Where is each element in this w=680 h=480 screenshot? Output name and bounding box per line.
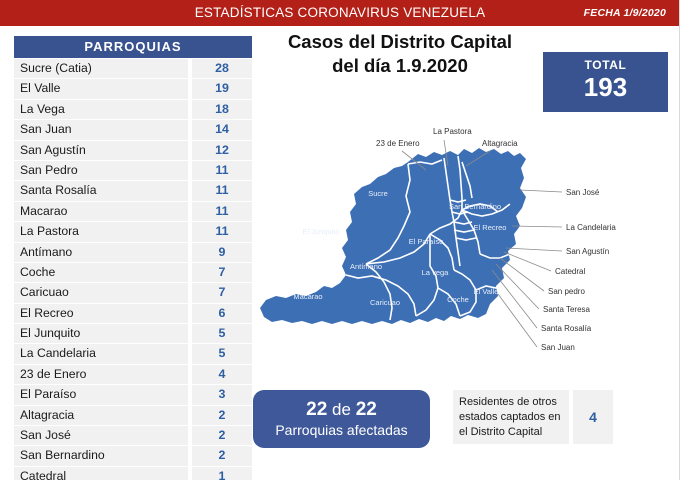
parish-name: Altagracia [14,406,188,425]
callout-line-catedral [504,252,551,271]
residents-box: Residentes de otros estados captados en … [453,390,613,444]
parish-case-count: 11 [192,222,252,241]
parish-case-count: 1 [192,467,252,480]
page-title: Casos del Distrito Capital del día 1.9.2… [262,30,538,78]
parish-case-count: 2 [192,446,252,465]
residents-value: 4 [573,390,613,444]
table-row: El Recreo6 [14,304,252,323]
table-row: Caricuao7 [14,283,252,302]
parish-case-count: 11 [192,161,252,180]
map-callout-label: Catedral [555,267,585,276]
map-parish-label: Antímano [350,262,382,271]
table-row: Sucre (Catia)28 [14,59,252,78]
parish-name: Coche [14,263,188,282]
affected-parishes-box: 22 de 22 Parroquias afectadas [253,390,430,448]
map-parish-label: Macarao [293,292,322,301]
map-callout-label: San Juan [541,343,575,352]
parish-case-count: 2 [192,426,252,445]
affected-total: 22 [356,399,377,420]
map-parish-label: El Valle [474,287,499,296]
table-row: Coche7 [14,263,252,282]
map-callout-label: La Candelaria [566,223,616,232]
parish-name: San Pedro [14,161,188,180]
banner-date: FECHA 1/9/2020 [584,0,666,26]
table-row: Santa Rosalía11 [14,181,252,200]
table-row: Antímano9 [14,243,252,262]
table-row: San Juan14 [14,120,252,139]
parish-name: Santa Rosalía [14,181,188,200]
parish-case-count: 11 [192,181,252,200]
page-title-line2: del día 1.9.2020 [262,54,538,78]
parishes-table-body: Sucre (Catia)28El Valle19La Vega18San Ju… [14,59,252,480]
parish-case-count: 3 [192,385,252,404]
parish-name: La Candelaria [14,344,188,363]
map-callout-label: San José [566,188,600,197]
map-callout-label: La Pastora [433,127,472,136]
banner-title: ESTADÍSTICAS CORONAVIRUS VENEZUELA [0,0,680,26]
parish-name: Macarao [14,202,188,221]
table-row: La Candelaria5 [14,344,252,363]
parish-name: El Recreo [14,304,188,323]
table-row: Catedral1 [14,467,252,480]
callout-line-san-agustin [506,248,562,251]
table-row: San Agustín12 [14,141,252,160]
parish-case-count: 2 [192,406,252,425]
parish-name: El Junquito [14,324,188,343]
map-parish-label: Sucre [368,189,388,198]
page-title-line1: Casos del Distrito Capital [262,30,538,54]
parish-case-count: 5 [192,344,252,363]
callout-line-san-pedro [500,258,544,291]
map-callout-label: San Agustín [566,247,609,256]
table-row: El Paraíso3 [14,385,252,404]
parish-name: El Valle [14,79,188,98]
parish-name: Catedral [14,467,188,480]
parish-name: La Vega [14,100,188,119]
parish-case-count: 12 [192,141,252,160]
map-parish-label: Caricuao [370,298,400,307]
affected-parishes-ratio: 22 de 22 [253,399,430,420]
parish-case-count: 9 [192,243,252,262]
parish-case-count: 6 [192,304,252,323]
parish-case-count: 18 [192,100,252,119]
map-parish-label: La vega [422,268,450,277]
parish-case-count: 28 [192,59,252,78]
table-row: La Pastora11 [14,222,252,241]
parish-name: San Bernardino [14,446,188,465]
map-callout-label: Santa Rosalía [541,324,592,333]
table-row: El Valle19 [14,79,252,98]
total-box: TOTAL 193 [543,52,668,112]
table-row: San Pedro11 [14,161,252,180]
infographic-page: ESTADÍSTICAS CORONAVIRUS VENEZUELA FECHA… [0,0,680,480]
map-callout-label: Santa Teresa [543,305,591,314]
parish-name: Caricuao [14,283,188,302]
parish-case-count: 7 [192,283,252,302]
parish-name: San José [14,426,188,445]
header-banner: ESTADÍSTICAS CORONAVIRUS VENEZUELA FECHA… [0,0,680,26]
table-row: El Junquito5 [14,324,252,343]
affected-connector: de [332,400,351,419]
total-value: 193 [543,72,668,102]
parish-name: Antímano [14,243,188,262]
callout-line-la-candelaria [512,226,562,227]
parish-case-count: 7 [192,263,252,282]
table-row: La Vega18 [14,100,252,119]
parish-name: San Agustín [14,141,188,160]
parish-name: 23 de Enero [14,365,188,384]
residents-label: Residentes de otros estados captados en … [453,390,569,444]
callout-line-santa-rosalia [492,270,537,328]
parish-name: El Paraíso [14,385,188,404]
parish-name: San Juan [14,120,188,139]
table-row: 23 de Enero4 [14,365,252,384]
table-row: Altagracia2 [14,406,252,425]
map-callout-label: Altagracia [482,139,518,148]
affected-parishes-caption: Parroquias afectadas [253,420,430,440]
map-parish-label: El Recreo [474,223,507,232]
affected-count: 22 [306,399,327,420]
table-row: San José2 [14,426,252,445]
parish-name: La Pastora [14,222,188,241]
map-parish-label: Coche [447,295,469,304]
parishes-table-header: PARROQUIAS [14,36,252,58]
map-parish-label: San Bernardino [449,202,501,211]
table-row: Macarao11 [14,202,252,221]
total-label: TOTAL [543,52,668,72]
callout-line-san-jose [520,190,562,192]
parish-case-count: 11 [192,202,252,221]
map-parish-label: El Junquito [302,227,339,236]
map-callout-label: San pedro [548,287,585,296]
parish-case-count: 19 [192,79,252,98]
parish-case-count: 5 [192,324,252,343]
parish-case-count: 14 [192,120,252,139]
map-parish-label: El Paraíso [409,237,444,246]
table-row: San Bernardino2 [14,446,252,465]
parishes-table: PARROQUIAS Sucre (Catia)28El Valle19La V… [14,36,252,480]
capital-district-map: SucreEl JunquitoAntímanoMacaraoCaricuaoE… [258,118,672,376]
map-svg: SucreEl JunquitoAntímanoMacaraoCaricuaoE… [258,118,672,376]
parish-name: Sucre (Catia) [14,59,188,78]
map-callout-label: 23 de Enero [376,139,420,148]
parish-case-count: 4 [192,365,252,384]
